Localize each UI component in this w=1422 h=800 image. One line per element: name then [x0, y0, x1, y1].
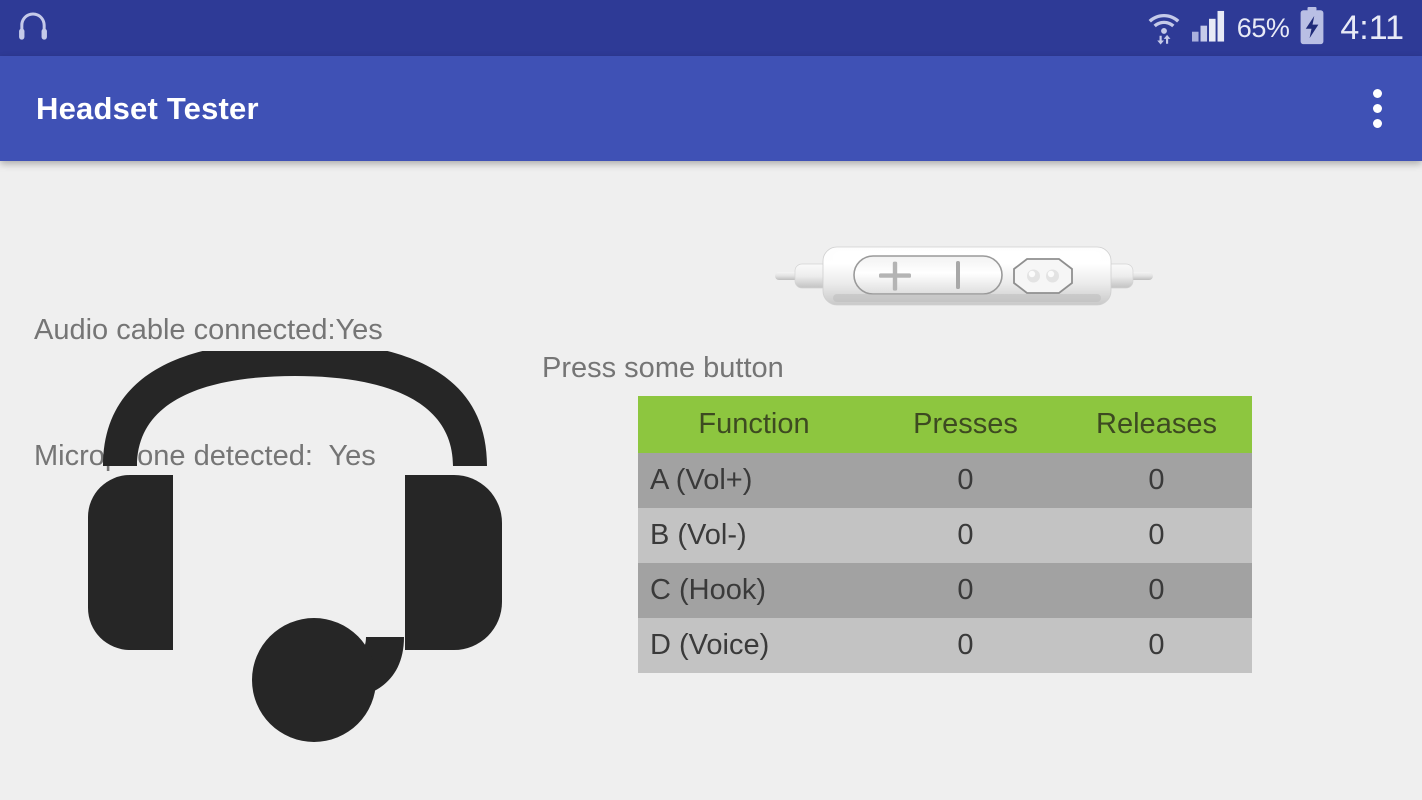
header-releases: Releases: [1061, 396, 1252, 453]
row-presses: 0: [870, 618, 1061, 673]
cellular-signal-icon: [1192, 9, 1228, 48]
header-presses: Presses: [870, 396, 1061, 453]
headset-with-microphone-icon: [70, 351, 520, 751]
row-function: B (Vol-): [638, 508, 870, 563]
overflow-menu-icon[interactable]: [1373, 89, 1422, 128]
battery-charging-icon: [1298, 7, 1326, 50]
audio-cable-status: Audio cable connected:Yes: [34, 309, 383, 351]
press-button-prompt: Press some button: [542, 352, 784, 385]
row-function: A (Vol+): [638, 453, 870, 508]
table-header-row: Function Presses Releases: [638, 396, 1252, 453]
battery-percent-label: 65%: [1237, 13, 1290, 44]
row-presses: 0: [870, 508, 1061, 563]
status-bar: 65% 4:11: [0, 0, 1422, 56]
row-presses: 0: [870, 453, 1061, 508]
row-function: C (Hook): [638, 563, 870, 618]
table-row: B (Vol-) 0 0: [638, 508, 1252, 563]
headphones-icon: [14, 7, 52, 50]
wifi-with-transfer-arrows-icon: [1145, 6, 1183, 51]
row-function: D (Voice): [638, 618, 870, 673]
header-function: Function: [638, 396, 870, 453]
app-bar: Headset Tester: [0, 56, 1422, 161]
overflow-dot: [1373, 89, 1382, 98]
row-releases: 0: [1061, 453, 1252, 508]
row-releases: 0: [1061, 563, 1252, 618]
table-row: C (Hook) 0 0: [638, 563, 1252, 618]
overflow-dot: [1373, 119, 1382, 128]
button-events-table: Function Presses Releases A (Vol+) 0 0 B…: [638, 396, 1252, 673]
table-row: D (Voice) 0 0: [638, 618, 1252, 673]
inline-remote-control-image: [775, 244, 1153, 308]
table-header: Function Presses Releases: [638, 396, 1252, 453]
app-title: Headset Tester: [0, 91, 259, 127]
status-bar-right: 65% 4:11: [1145, 6, 1422, 51]
status-bar-clock: 4:11: [1340, 9, 1404, 48]
row-releases: 0: [1061, 508, 1252, 563]
status-bar-left: [0, 7, 52, 50]
row-presses: 0: [870, 563, 1061, 618]
app-screen: 65% 4:11 Headset Tester Audio cable conn…: [0, 0, 1422, 800]
main-content: Audio cable connected:Yes Microphone det…: [0, 161, 1422, 800]
row-releases: 0: [1061, 618, 1252, 673]
table-row: A (Vol+) 0 0: [638, 453, 1252, 508]
overflow-dot: [1373, 104, 1382, 113]
table-body: A (Vol+) 0 0 B (Vol-) 0 0 C (Hook) 0 0 D…: [638, 453, 1252, 673]
